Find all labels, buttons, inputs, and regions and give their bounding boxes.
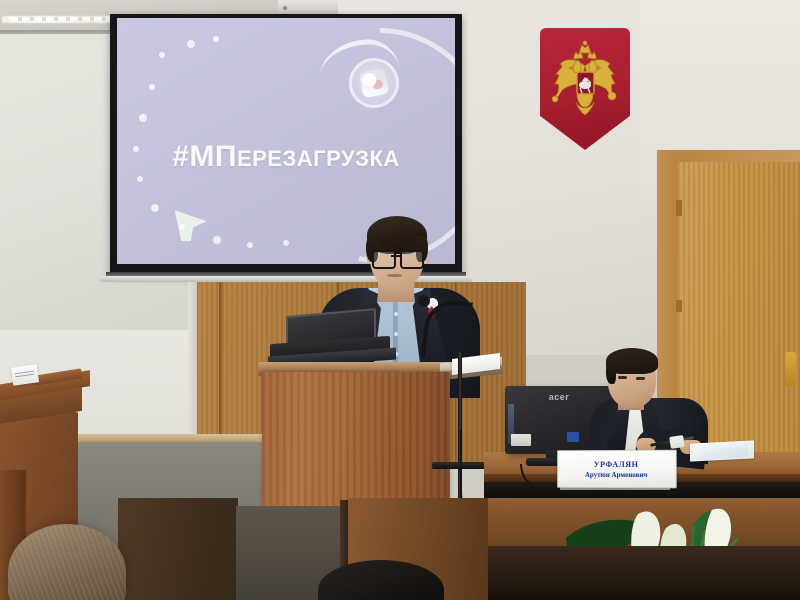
circular-emblem-logo-icon xyxy=(349,58,399,108)
slide-dot xyxy=(151,204,159,212)
screen-mount-screw xyxy=(283,6,287,10)
slide-title-suffix: ЕРЕЗАГРУЗКА xyxy=(237,146,400,171)
shirt-cuff xyxy=(669,435,685,449)
ceiling-light-cells xyxy=(10,17,120,21)
foreground-panel-left xyxy=(118,498,238,600)
monitor-blue-sticker xyxy=(567,432,579,442)
shirt-button xyxy=(394,332,398,336)
slide-dot xyxy=(213,36,219,42)
nameplate-given-name: Арутюн Арменович xyxy=(585,470,648,478)
slide-dot xyxy=(159,52,165,58)
slide-dot xyxy=(283,240,289,246)
conference-hall-scene: #МПЕРЕЗАГРУЗКА xyxy=(0,0,800,600)
nameplate-surname: УРФАЛЯН xyxy=(594,459,639,468)
slide-dot xyxy=(139,114,147,122)
slide-dot xyxy=(213,236,221,244)
double-headed-eagle-icon xyxy=(552,40,618,120)
shirt-button xyxy=(394,312,398,316)
desk-nameplate: УРФАЛЯН Арутюн Арменович xyxy=(557,450,677,489)
eyeglasses-bridge xyxy=(391,255,401,257)
slide-dot xyxy=(247,242,253,248)
slide-dot xyxy=(187,40,195,48)
seated-official-hair-side xyxy=(606,362,616,384)
eyeglasses-lens-left-icon xyxy=(372,250,396,269)
presenter-eyebrow-left xyxy=(373,246,391,249)
seated-official-eye-right xyxy=(636,377,645,380)
slide-dot xyxy=(137,176,143,182)
slide-dot xyxy=(133,146,139,152)
seated-official-eye-left xyxy=(618,376,627,379)
slide-title: #МПЕРЕЗАГРУЗКА xyxy=(117,140,455,174)
door-handle-icon[interactable] xyxy=(785,352,796,386)
slide-dot xyxy=(179,224,185,230)
slide-dot xyxy=(149,84,155,90)
baseboard-trim xyxy=(60,434,290,442)
slide-title-prefix: #МП xyxy=(172,140,237,173)
foreground-dark-strip xyxy=(488,546,800,600)
emblem-figure xyxy=(359,68,390,99)
microphone-head-icon xyxy=(418,295,430,307)
door-hinge xyxy=(676,300,682,312)
presenter-eyebrow-right xyxy=(401,246,419,249)
eyeglasses-lens-right-icon xyxy=(400,250,424,269)
presenter-mouth xyxy=(387,274,402,277)
door-hinge xyxy=(676,200,682,216)
monitor-brand-label: acer xyxy=(505,392,613,402)
monitor-sticker xyxy=(511,434,531,446)
